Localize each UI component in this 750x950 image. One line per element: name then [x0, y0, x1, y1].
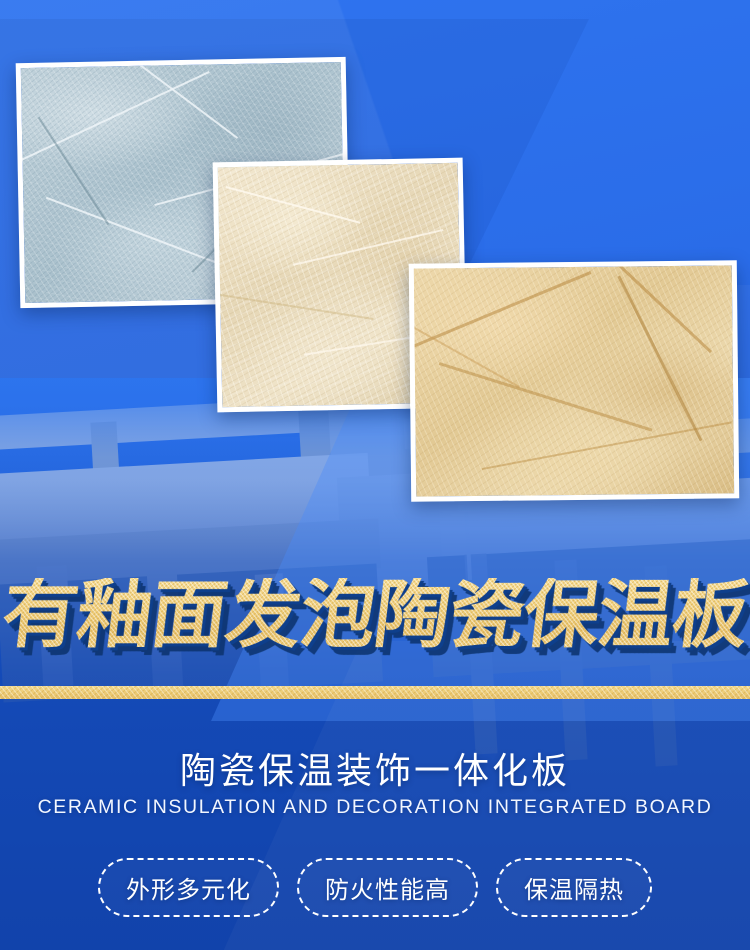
feature-badge-list: 外形多元化 防火性能高 保温隔热: [0, 858, 750, 917]
feature-badge[interactable]: 保温隔热: [496, 858, 652, 917]
feature-badge[interactable]: 外形多元化: [98, 858, 279, 917]
product-banner: 有釉面发泡陶瓷保温板 陶瓷保温装饰一体化板 CERAMIC INSULATION…: [0, 0, 750, 950]
subtitle-english: CERAMIC INSULATION AND DECORATION INTEGR…: [0, 796, 750, 819]
feature-badge[interactable]: 防火性能高: [297, 858, 478, 917]
subtitle-chinese: 陶瓷保温装饰一体化板: [0, 742, 750, 794]
headline-container: 有釉面发泡陶瓷保温板: [0, 578, 750, 652]
tile-sample-golden-marble[interactable]: [409, 260, 739, 501]
page-title: 有釉面发泡陶瓷保温板: [0, 578, 750, 652]
gold-divider-bar: [0, 686, 750, 699]
tile-texture-grain: [414, 265, 734, 496]
